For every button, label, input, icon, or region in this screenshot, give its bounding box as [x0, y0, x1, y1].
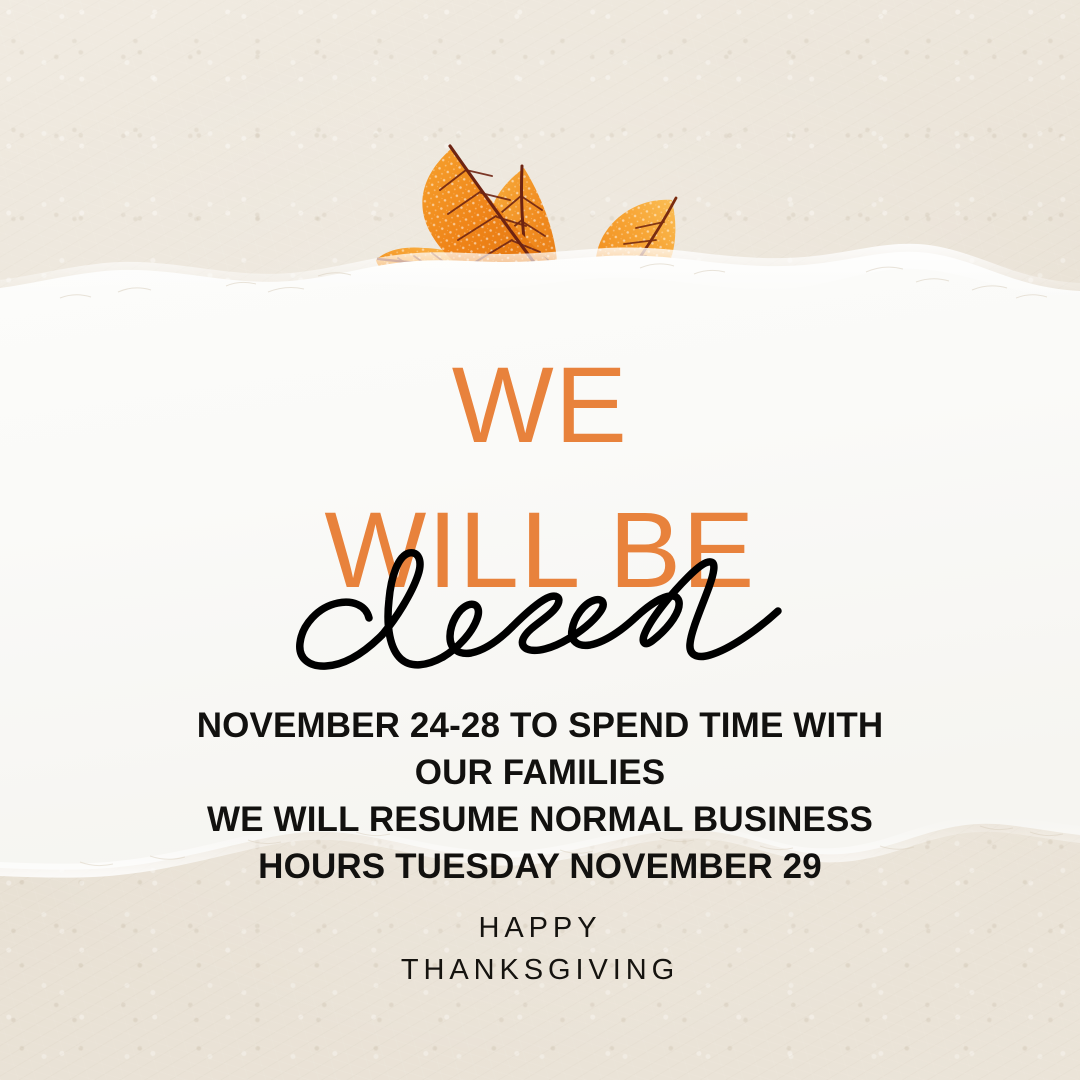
script-word-closed: closed — [0, 545, 1080, 685]
poster-canvas: WE WILL BE closed — [0, 0, 1080, 1080]
body-line-3: WE WILL RESUME NORMAL BUSINESS — [0, 797, 1080, 844]
body-line-4: HOURS TUESDAY NOVEMBER 29 — [0, 844, 1080, 891]
headline-line-1: WE — [0, 351, 1080, 459]
poster-content: WE WILL BE closed — [0, 0, 1080, 1080]
signoff-greeting: HAPPY THANKSGIVING — [0, 907, 1080, 991]
signoff-line-2: THANKSGIVING — [0, 949, 1080, 991]
body-line-2: OUR FAMILIES — [0, 750, 1080, 797]
body-line-1: NOVEMBER 24-28 TO SPEND TIME WITH — [0, 703, 1080, 750]
body-paragraph: NOVEMBER 24-28 TO SPEND TIME WITH OUR FA… — [0, 703, 1080, 891]
script-word-closed-wrap: closed — [0, 545, 1080, 685]
signoff-line-1: HAPPY — [0, 907, 1080, 949]
